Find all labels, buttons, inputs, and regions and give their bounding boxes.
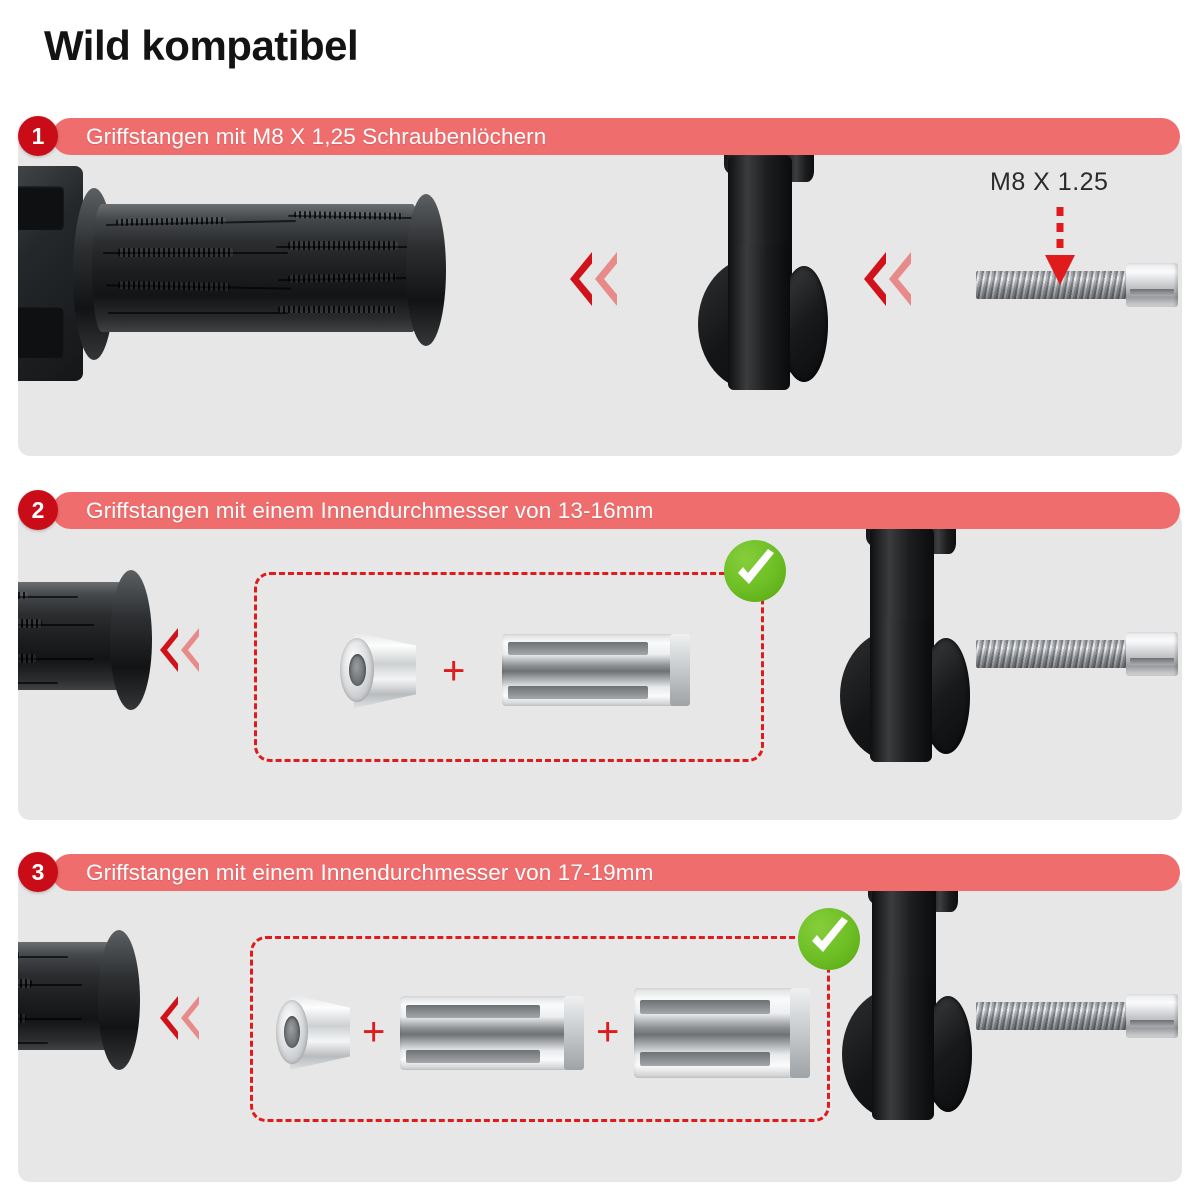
mount-stem-front — [872, 976, 934, 1120]
bolt-head — [1126, 994, 1178, 1038]
page-title: Wild kompatibel — [44, 22, 358, 70]
expansion-sleeve — [502, 634, 690, 706]
grip-texture-ribs — [18, 619, 42, 628]
grip-texture-ribs — [18, 1014, 26, 1023]
chevron-group-1b — [864, 252, 911, 306]
dashed-down-arrow-icon — [1040, 205, 1080, 287]
grip-texture-ribs — [288, 241, 398, 250]
sleeve-slot — [406, 1005, 540, 1018]
sleeve-slot — [640, 1000, 770, 1014]
mirror-mount — [836, 512, 1016, 758]
grip-texture-line — [18, 1018, 82, 1020]
section-3-panel: + + — [18, 874, 1182, 1182]
section-2-banner: Griffstangen mit einem Innendurchmesser … — [0, 490, 1200, 534]
section-1-badge: 1 — [18, 116, 58, 156]
chevron-left-icon — [160, 996, 178, 1040]
chevron-left-icon — [864, 252, 886, 306]
grip-texture-ribs — [18, 654, 36, 663]
chevron-left-icon — [889, 252, 911, 306]
sleeve-end-cap — [564, 996, 584, 1070]
plus-symbol: + — [596, 1012, 619, 1052]
section-3-heading: Griffstangen mit einem Innendurchmesser … — [52, 860, 653, 886]
section-1-banner: Griffstangen mit M8 X 1,25 Schraubenlöch… — [0, 116, 1200, 160]
compatible-check-icon — [798, 908, 860, 970]
cone-bore — [349, 654, 366, 686]
sleeve-slot — [406, 1050, 540, 1063]
cone-nut — [274, 994, 350, 1070]
section-1-bar: Griffstangen mit M8 X 1,25 Schraubenlöch… — [52, 118, 1180, 155]
bolt-head-slot — [1130, 1020, 1174, 1027]
sleeve-end-cap — [790, 988, 810, 1078]
section-3-bar: Griffstangen mit einem Innendurchmesser … — [52, 854, 1180, 891]
handlebar-grip — [18, 156, 468, 386]
grip-flange-end — [98, 930, 140, 1070]
grip-texture-ribs — [18, 592, 28, 599]
bolt-head — [1126, 632, 1178, 676]
expansion-sleeve-large — [634, 988, 810, 1078]
compatible-check-icon — [724, 540, 786, 602]
section-1-heading: Griffstangen mit M8 X 1,25 Schraubenlöch… — [52, 124, 546, 150]
cone-nut — [338, 632, 416, 708]
infographic-page: Wild kompatibel — [0, 0, 1200, 1200]
chevron-left-icon — [570, 252, 592, 306]
bolt-head — [1126, 263, 1178, 307]
bolt-head-slot — [1130, 289, 1174, 296]
switch-button-bottom — [18, 306, 64, 358]
plus-symbol: + — [362, 1012, 385, 1052]
chevron-left-icon — [181, 996, 199, 1040]
section-2-bar: Griffstangen mit einem Innendurchmesser … — [52, 492, 1180, 529]
bolt-head-slot — [1130, 658, 1174, 665]
mount-stem-front — [870, 618, 932, 762]
expansion-sleeve-small — [400, 996, 584, 1070]
chevron-left-icon — [181, 628, 199, 672]
handlebar-grip — [18, 918, 182, 1108]
grip-texture-ribs — [278, 306, 396, 313]
chevron-left-icon — [595, 252, 617, 306]
grip-flange-end — [110, 570, 152, 710]
sleeve-slot — [508, 686, 648, 699]
mirror-mount — [838, 874, 1018, 1116]
chevron-group-1a — [570, 252, 617, 306]
grip-flange-end — [406, 194, 446, 346]
chevron-group-3 — [160, 996, 199, 1040]
mirror-mount — [694, 136, 874, 386]
grip-texture-ribs — [18, 979, 32, 988]
section-2-heading: Griffstangen mit einem Innendurchmesser … — [52, 498, 653, 524]
cone-bore — [284, 1016, 300, 1048]
section-3-banner: Griffstangen mit einem Innendurchmesser … — [0, 852, 1200, 896]
grip-texture-line — [18, 682, 58, 684]
mount-stem-front — [728, 246, 790, 390]
m8-callout-label: M8 X 1.25 — [990, 168, 1108, 197]
section-2-panel: + — [18, 512, 1182, 820]
grip-texture-line — [108, 312, 288, 314]
grip-texture-ribs — [118, 248, 233, 257]
chevron-left-icon — [160, 628, 178, 672]
switch-button-top — [18, 186, 64, 230]
sleeve-end-cap — [670, 634, 690, 706]
sleeve-slot — [508, 642, 648, 655]
section-2-badge: 2 — [18, 490, 58, 530]
section-3-badge: 3 — [18, 852, 58, 892]
sleeve-slot — [640, 1052, 770, 1066]
chevron-group-2 — [160, 628, 199, 672]
grip-texture-line — [18, 1042, 48, 1044]
plus-symbol: + — [442, 651, 465, 691]
grip-texture-line — [18, 956, 68, 958]
